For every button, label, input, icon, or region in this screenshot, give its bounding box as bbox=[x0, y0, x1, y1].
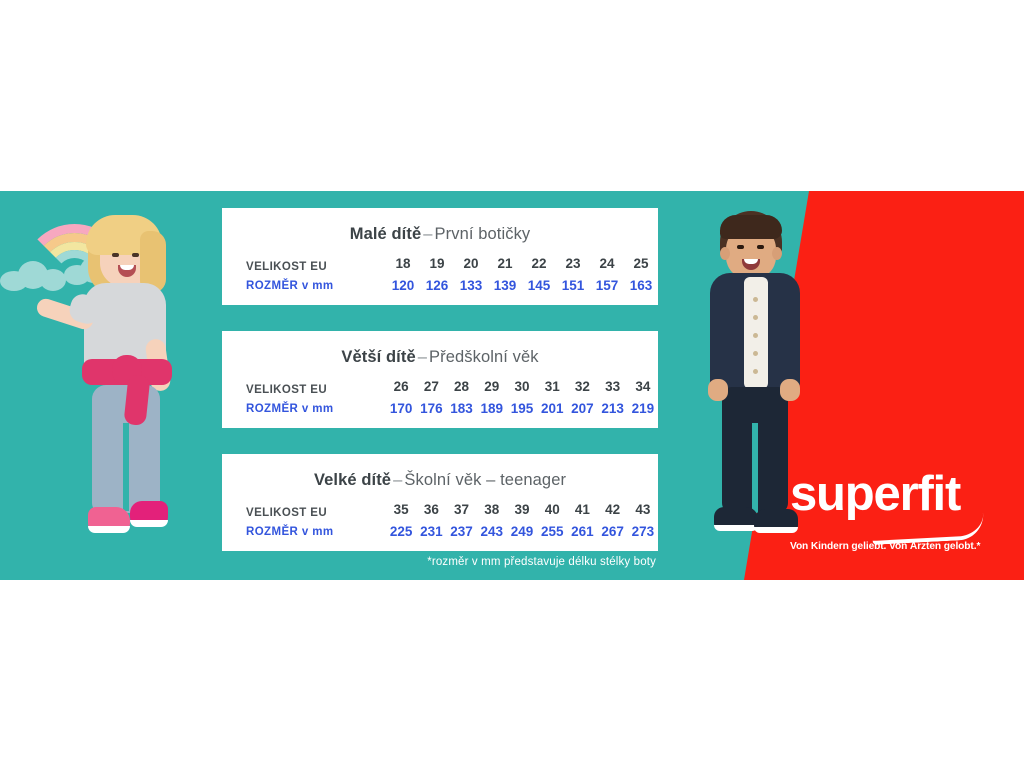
mm-cell: 261 bbox=[567, 524, 597, 539]
mm-cell: 151 bbox=[556, 278, 590, 293]
mm-cell: 145 bbox=[522, 278, 556, 293]
eu-cell: 23 bbox=[556, 256, 590, 278]
mm-cell: 176 bbox=[416, 401, 446, 416]
mm-cell: 183 bbox=[446, 401, 476, 416]
eu-cell: 31 bbox=[537, 379, 567, 401]
mm-cell: 170 bbox=[386, 401, 416, 416]
row-label-eu: VELIKOST EU bbox=[222, 256, 386, 278]
size-card-small-child: Malé dítě–První botičky VELIKOST EU 18 1… bbox=[222, 208, 658, 305]
card-title-dash: – bbox=[416, 348, 429, 366]
card-title-dash: – bbox=[391, 471, 404, 489]
eu-cell: 21 bbox=[488, 256, 522, 278]
card-title-rest: Předškolní věk bbox=[429, 348, 539, 366]
eu-cell: 30 bbox=[507, 379, 537, 401]
logo-word-fit: fit bbox=[917, 467, 960, 521]
eu-cell: 32 bbox=[567, 379, 597, 401]
mm-cell: 133 bbox=[454, 278, 488, 293]
card-title: Velké dítě–Školní věk – teenager bbox=[222, 471, 658, 490]
mm-cell: 237 bbox=[446, 524, 476, 539]
eu-cell: 22 bbox=[522, 256, 556, 278]
size-table: VELIKOST EU 35 36 37 38 39 40 41 42 43 R… bbox=[222, 502, 658, 539]
logo-word-super: super bbox=[790, 467, 917, 521]
mm-cell: 219 bbox=[628, 401, 658, 416]
mm-cell: 201 bbox=[537, 401, 567, 416]
mm-cell: 273 bbox=[628, 524, 658, 539]
eu-cell: 41 bbox=[567, 502, 597, 524]
card-title-strong: Větší dítě bbox=[341, 348, 415, 366]
eu-cell: 24 bbox=[590, 256, 624, 278]
eu-cell: 38 bbox=[477, 502, 507, 524]
mm-cell: 157 bbox=[590, 278, 624, 293]
eu-cell: 25 bbox=[624, 256, 658, 278]
mm-cell: 231 bbox=[416, 524, 446, 539]
row-label-eu: VELIKOST EU bbox=[222, 502, 386, 524]
mm-cell: 126 bbox=[420, 278, 454, 293]
size-tables: Malé dítě–První botičky VELIKOST EU 18 1… bbox=[222, 208, 658, 551]
footnote: *rozměr v mm představuje délku stélky bo… bbox=[222, 556, 658, 568]
mm-cell: 267 bbox=[598, 524, 628, 539]
mm-cell: 189 bbox=[477, 401, 507, 416]
mm-cell: 195 bbox=[507, 401, 537, 416]
eu-cell: 33 bbox=[598, 379, 628, 401]
eu-cell: 35 bbox=[386, 502, 416, 524]
size-card-big-child: Velké dítě–Školní věk – teenager VELIKOS… bbox=[222, 454, 658, 551]
eu-cell: 26 bbox=[386, 379, 416, 401]
card-title-strong: Malé dítě bbox=[350, 225, 422, 243]
mm-cell: 213 bbox=[598, 401, 628, 416]
mm-cell: 225 bbox=[386, 524, 416, 539]
row-label-mm: ROZMĚR v mm bbox=[222, 401, 386, 416]
eu-cell: 34 bbox=[628, 379, 658, 401]
table-row-eu: VELIKOST EU 26 27 28 29 30 31 32 33 34 bbox=[222, 379, 658, 401]
table-row-mm: ROZMĚR v mm 170 176 183 189 195 201 207 … bbox=[222, 401, 658, 416]
card-title-rest: První botičky bbox=[435, 225, 531, 243]
table-row-mm: ROZMĚR v mm 225 231 237 243 249 255 261 … bbox=[222, 524, 658, 539]
mm-cell: 207 bbox=[567, 401, 597, 416]
eu-cell: 18 bbox=[386, 256, 420, 278]
table-row-mm: ROZMĚR v mm 120 126 133 139 145 151 157 … bbox=[222, 278, 658, 293]
eu-cell: 27 bbox=[416, 379, 446, 401]
girl-model-image bbox=[30, 213, 220, 573]
superfit-logo: superfit Von Kindern geliebt. Von Ärzten… bbox=[790, 470, 1000, 552]
eu-cell: 40 bbox=[537, 502, 567, 524]
size-table: VELIKOST EU 26 27 28 29 30 31 32 33 34 R… bbox=[222, 379, 658, 416]
eu-cell: 37 bbox=[446, 502, 476, 524]
row-label-eu: VELIKOST EU bbox=[222, 379, 386, 401]
table-row-eu: VELIKOST EU 18 19 20 21 22 23 24 25 bbox=[222, 256, 658, 278]
mm-cell: 255 bbox=[537, 524, 567, 539]
card-title-rest: Školní věk – teenager bbox=[404, 471, 566, 489]
size-card-bigger-child: Větší dítě–Předškolní věk VELIKOST EU 26… bbox=[222, 331, 658, 428]
mm-cell: 163 bbox=[624, 278, 658, 293]
row-label-mm: ROZMĚR v mm bbox=[222, 524, 386, 539]
banner-page: Malé dítě–První botičky VELIKOST EU 18 1… bbox=[0, 0, 1024, 768]
logo-wordmark: superfit bbox=[790, 470, 1000, 519]
mm-cell: 139 bbox=[488, 278, 522, 293]
eu-cell: 42 bbox=[598, 502, 628, 524]
mm-cell: 249 bbox=[507, 524, 537, 539]
eu-cell: 19 bbox=[420, 256, 454, 278]
row-label-mm: ROZMĚR v mm bbox=[222, 278, 386, 293]
card-title-dash: – bbox=[421, 225, 434, 243]
eu-cell: 43 bbox=[628, 502, 658, 524]
table-row-eu: VELIKOST EU 35 36 37 38 39 40 41 42 43 bbox=[222, 502, 658, 524]
eu-cell: 20 bbox=[454, 256, 488, 278]
eu-cell: 36 bbox=[416, 502, 446, 524]
card-title: Větší dítě–Předškolní věk bbox=[222, 348, 658, 367]
mm-cell: 120 bbox=[386, 278, 420, 293]
eu-cell: 39 bbox=[507, 502, 537, 524]
card-title-strong: Velké dítě bbox=[314, 471, 391, 489]
eu-cell: 28 bbox=[446, 379, 476, 401]
size-table: VELIKOST EU 18 19 20 21 22 23 24 25 ROZM… bbox=[222, 256, 658, 293]
eu-cell: 29 bbox=[477, 379, 507, 401]
size-chart-banner: Malé dítě–První botičky VELIKOST EU 18 1… bbox=[0, 191, 1024, 580]
card-title: Malé dítě–První botičky bbox=[222, 225, 658, 244]
mm-cell: 243 bbox=[477, 524, 507, 539]
